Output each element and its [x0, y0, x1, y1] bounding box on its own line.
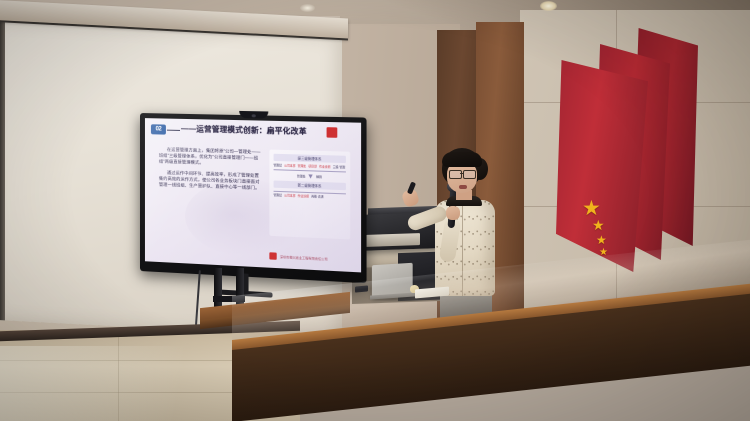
- slide-company-logo-icon: [327, 127, 338, 138]
- diagram-row-label: 管理层: [274, 193, 282, 197]
- presenter-fringe: [442, 152, 482, 167]
- diagram-row-note: 三级·管理: [333, 165, 346, 170]
- diagram-chip: 公司本部: [284, 163, 295, 167]
- slide-section-badge: 02: [151, 124, 166, 134]
- diagram-row-label: 管理层: [274, 163, 282, 167]
- slide-title-rule: [167, 130, 180, 131]
- diagram-caption-top: 原三级管理体系: [274, 154, 346, 163]
- glasses-lens-right: [463, 170, 476, 179]
- ceiling-downlight: [300, 4, 315, 12]
- slide-footer-text: 深圳市振兴嘉业工程有限责任公司: [280, 255, 328, 261]
- ceiling-downlight: [540, 1, 557, 11]
- camera-lens-icon: [252, 114, 256, 117]
- diagram-row-note: 两级·直通: [311, 194, 323, 199]
- slide-body-text: 在运营管理方面上，集团将原“公司—管理处——班组”三级管理体系，优化为“公司直接…: [159, 147, 261, 196]
- slide-paragraph: 通过运作中间环节、提高效率，形成了管理处置集约高效的运作方式，使公司各业务板块门…: [159, 169, 261, 191]
- diagram-transition-right: 精简: [316, 174, 322, 178]
- diagram-chip: 作业班组: [319, 164, 331, 169]
- flag-star-icon: ★: [592, 218, 605, 232]
- slide-diagram-panel: 原三级管理体系 管理层 公司本部 管理处 项目部 作业班组 三级·管理 管理处 …: [269, 150, 350, 240]
- flag-panel-front: ★ ★ ★ ★ ★: [556, 60, 648, 272]
- glasses-lens-left: [449, 170, 462, 179]
- diagram-transition-left: 管理处: [297, 174, 306, 178]
- slide-display: 02 ——运营管理模式创新：扁平化改革 在运营管理方面上，集团将原“公司—管理处…: [145, 118, 361, 272]
- diagram-caption-bottom: 新二级管理体系: [274, 180, 346, 190]
- chinese-flag-wall-sculpture: ★ ★ ★ ★ ★: [556, 22, 736, 272]
- diagram-row-top: 管理层 公司本部 管理处 项目部 作业班组 三级·管理: [274, 163, 346, 169]
- slide-footer-logo-icon: [269, 252, 276, 260]
- diagram-chip: 管理处: [298, 164, 307, 168]
- diagram-chip: 公司本部: [284, 193, 295, 198]
- diagram-divider: [274, 169, 346, 172]
- glasses-bridge: [460, 173, 463, 174]
- slide-paragraph: 在运营管理方面上，集团将原“公司—管理处——班组”三级管理体系，优化为“公司直接…: [159, 147, 261, 169]
- flag-star-icon: ★: [596, 234, 607, 246]
- conference-room-photo: ★ ★ ★ ★ ★ 02 ——运营管理模式创新：扁平化改革 在运营管理方面上，集…: [0, 0, 750, 421]
- arrow-down-icon: [309, 174, 313, 178]
- presenter-mouth: [459, 185, 467, 189]
- presenter-mic-hand: [446, 206, 460, 220]
- diagram-transition: 管理处 精简: [274, 173, 346, 179]
- diagram-row-bottom: 管理层 公司本部 作业班组 两级·直通: [274, 193, 346, 200]
- projection-screen-edge: [0, 20, 5, 320]
- diagram-chip: 作业班组: [298, 194, 309, 199]
- flat-panel-display: 02 ——运营管理模式创新：扁平化改革 在运营管理方面上，集团将原“公司—管理处…: [140, 113, 367, 283]
- flag-star-icon: ★: [582, 198, 601, 219]
- slide-title: ——运营管理模式创新：扁平化改革: [181, 123, 307, 137]
- diagram-chip: 项目部: [308, 164, 317, 168]
